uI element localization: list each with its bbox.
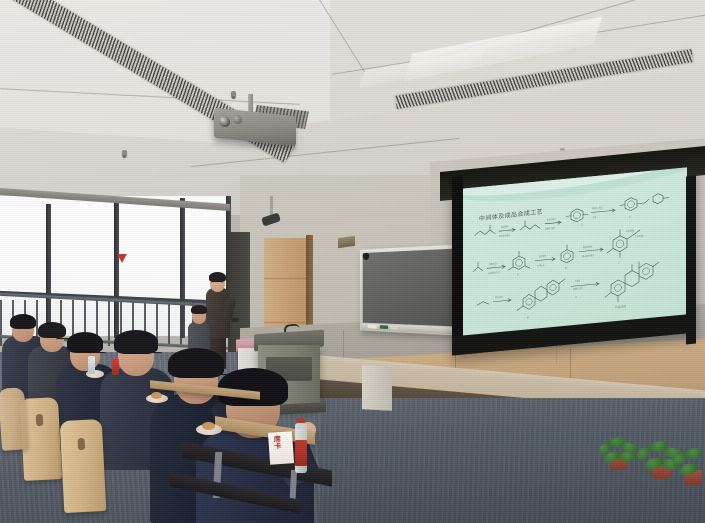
blackboard-surface	[363, 248, 465, 327]
marker[interactable]	[380, 325, 388, 329]
glasses-icon	[142, 352, 162, 356]
water-bottle[interactable]	[292, 418, 310, 474]
svg-text:3: 3	[581, 222, 583, 226]
potted-plant	[672, 444, 705, 488]
svg-text:7: 7	[618, 261, 620, 265]
svg-text:HNO3: HNO3	[489, 261, 497, 266]
presentation-clicker[interactable]	[231, 318, 239, 322]
svg-text:产品/成品: 产品/成品	[615, 304, 627, 309]
snack-food	[202, 422, 215, 430]
svg-text:NaOH: NaOH	[501, 224, 509, 229]
name-card-text: 席卡	[273, 435, 281, 449]
snack-food	[151, 392, 162, 399]
sprinkler-head	[231, 91, 236, 98]
projected-slide: 中间体及成品合成工艺	[463, 167, 687, 336]
water-bottle[interactable]	[112, 358, 119, 375]
projector-focus-knob	[233, 115, 242, 125]
marker[interactable]	[368, 325, 377, 329]
attendee-hair	[67, 332, 103, 353]
slide-reaction-scheme: NaOHEtOH 80 K2CO3DMF 60 Pd/C,H250 34 HNO…	[463, 167, 687, 336]
attendee-hair	[218, 368, 288, 406]
svg-text:EtOH 80: EtOH 80	[499, 233, 510, 238]
bottle-label	[295, 440, 307, 466]
svg-text:MeOH 65: MeOH 65	[582, 253, 594, 258]
floor-box	[362, 365, 392, 411]
column-seam	[264, 322, 308, 323]
svg-text:Pd/C,H2: Pd/C,H2	[592, 205, 603, 210]
chair[interactable]	[0, 387, 28, 451]
svg-text:50: 50	[593, 215, 597, 219]
board-magnet-icon	[363, 253, 370, 260]
svg-text:COOEt: COOEt	[626, 228, 635, 233]
svg-text:6: 6	[565, 266, 567, 270]
attendee-hair	[191, 305, 207, 314]
water-bottle[interactable]	[88, 356, 95, 374]
screen-border-left	[452, 175, 463, 344]
attendee-hair	[114, 330, 158, 354]
svg-text:COOEt: COOEt	[635, 234, 644, 239]
column-seam	[264, 278, 308, 279]
svg-text:AcOH: AcOH	[539, 254, 546, 259]
attendee-hair	[38, 322, 66, 338]
photo-scene: 中间体及成品合成工艺	[0, 0, 705, 523]
svg-text:POCl3: POCl3	[495, 295, 503, 300]
chair-handle-slot	[36, 414, 44, 426]
chair[interactable]	[60, 419, 107, 513]
svg-text:DMF 60: DMF 60	[545, 226, 555, 231]
glasses-icon	[211, 281, 223, 285]
chair-handle-slot	[78, 438, 86, 450]
sprinkler-head	[122, 150, 127, 157]
svg-text:NaOMe: NaOMe	[583, 244, 593, 249]
svg-text:rt: rt	[575, 295, 577, 299]
svg-text:reflux: reflux	[537, 263, 545, 268]
attendee-hair	[10, 314, 36, 329]
projector-lens	[219, 115, 230, 127]
red-triangle-sticker	[117, 254, 127, 263]
svg-text:K2CO3: K2CO3	[547, 217, 556, 222]
svg-text:H2SO4 0: H2SO4 0	[488, 270, 500, 275]
name-card: 席卡	[268, 431, 294, 465]
marker[interactable]	[390, 326, 397, 330]
svg-text:5: 5	[517, 272, 519, 276]
plant-leaf	[685, 446, 703, 460]
svg-text:4: 4	[629, 215, 631, 219]
svg-text:8: 8	[527, 315, 529, 319]
svg-text:DMF 80: DMF 80	[573, 286, 583, 291]
svg-text:TEA: TEA	[575, 279, 580, 283]
